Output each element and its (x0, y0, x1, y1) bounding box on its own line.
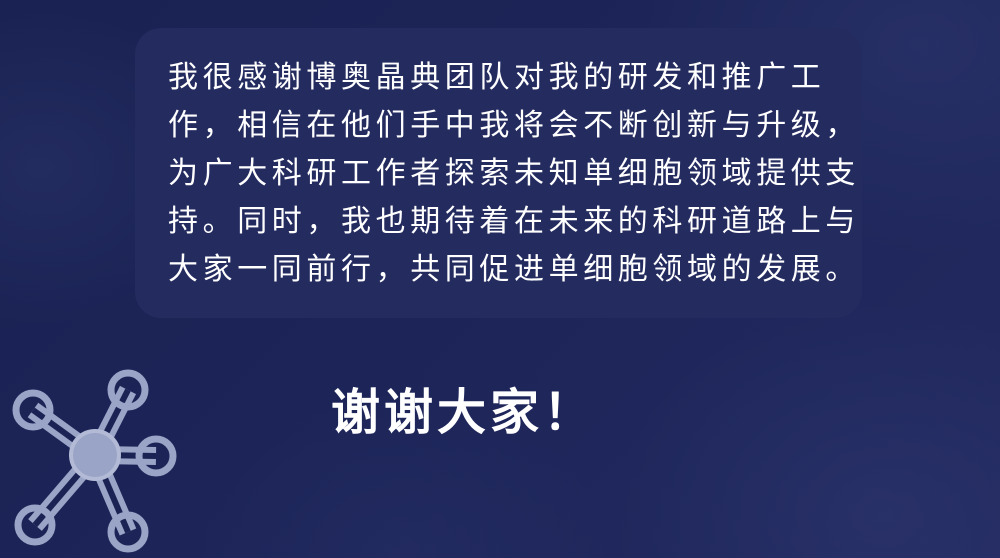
quote-line: 大家一同前行，共同促进单细胞领域的发展。 (168, 246, 840, 294)
satellite-bottom-left (18, 508, 52, 542)
molecule-icon (0, 358, 200, 558)
satellite-bottom-right (111, 515, 145, 549)
satellite-right (139, 439, 173, 473)
molecule-decoration (0, 358, 200, 558)
molecule-nucleus (71, 431, 119, 479)
slide-root: 我很感谢博奥晶典团队对我的研发和推广工 作，相信在他们手中我将会不断创新与升级，… (0, 0, 1000, 558)
satellite-top (111, 373, 145, 407)
quote-line: 为广大科研工作者探索未知单细胞领域提供支 (168, 150, 840, 198)
quote-line: 持。同时，我也期待着在未来的科研道路上与 (168, 198, 840, 246)
satellite-upper-left (16, 393, 50, 427)
thanks-headline: 谢谢大家！ (331, 384, 596, 442)
quote-line: 作，相信在他们手中我将会不断创新与升级， (168, 102, 840, 150)
quote-line: 我很感谢博奥晶典团队对我的研发和推广工 (168, 54, 840, 102)
quote-card: 我很感谢博奥晶典团队对我的研发和推广工 作，相信在他们手中我将会不断创新与升级，… (135, 28, 862, 318)
quote-text-block: 我很感谢博奥晶典团队对我的研发和推广工 作，相信在他们手中我将会不断创新与升级，… (168, 54, 840, 294)
